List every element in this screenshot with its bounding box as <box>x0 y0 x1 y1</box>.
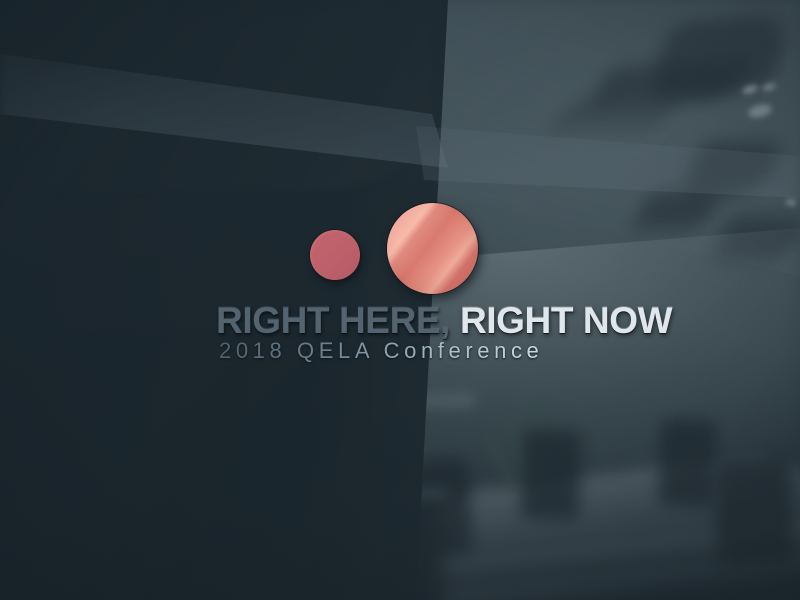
logo-lockup: RIGHT HERE, RIGHT NOW 2018 QELA Conferen… <box>216 198 586 368</box>
small-dot-mark <box>310 230 360 280</box>
large-dot-mark <box>387 203 478 294</box>
mockup-canvas: RIGHT HERE, RIGHT NOW 2018 QELA Conferen… <box>0 0 800 600</box>
logo-marks <box>216 198 586 290</box>
headline-part-one: RIGHT HERE, <box>216 300 460 341</box>
logo-headline: RIGHT HERE, RIGHT NOW <box>216 302 672 339</box>
logo-subtitle: 2018 QELA Conference <box>219 340 543 362</box>
headline-part-two: RIGHT NOW <box>460 300 672 341</box>
